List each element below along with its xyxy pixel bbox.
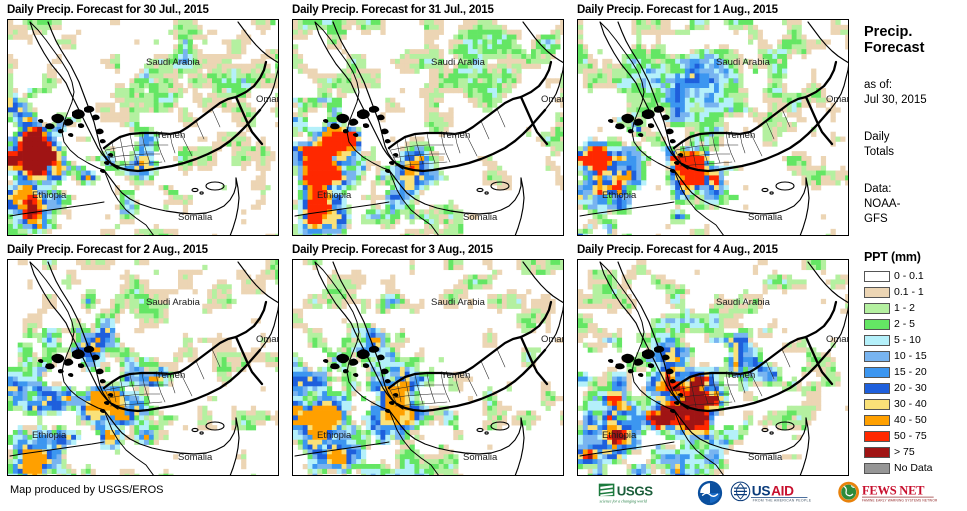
precip-grid	[293, 260, 564, 476]
legend-label: 10 - 15	[894, 351, 927, 362]
legend-swatch	[864, 271, 890, 282]
precip-grid	[8, 260, 279, 476]
legend-swatch	[864, 303, 890, 314]
panel-map-frame[interactable]: Saudi ArabiaOmanYemenEthiopiaSomalia	[292, 259, 564, 476]
legend-swatch	[864, 463, 890, 474]
panel-map-frame[interactable]: Saudi ArabiaOmanYemenEthiopiaSomalia	[577, 19, 849, 236]
legend-label: 2 - 5	[894, 319, 915, 330]
sidebar-data-block: Data: NOAA- GFS	[864, 182, 900, 227]
panel-title: Daily Precip. Forecast for 31 Jul., 2015	[292, 4, 494, 16]
legend-label: 1 - 2	[894, 303, 915, 314]
sidebar-product-title: Precip. Forecast	[864, 24, 924, 56]
legend-label: 20 - 30	[894, 383, 927, 394]
noaa-logo	[697, 480, 723, 506]
panel-map-frame[interactable]: Saudi ArabiaOmanYemenEthiopiaSomalia	[577, 259, 849, 476]
legend-swatch	[864, 335, 890, 346]
legend-row: 10 - 15	[864, 349, 967, 364]
legend-label: 0.1 - 1	[894, 287, 924, 298]
logo-bar: USGS science for a changing world US AID…	[598, 479, 937, 507]
map-credit: Map produced by USGS/EROS	[10, 484, 163, 496]
panel-title: Daily Precip. Forecast for 2 Aug., 2015	[7, 244, 208, 256]
usaid-logo: US AID FROM THE AMERICAN PEOPLE	[730, 480, 830, 506]
legend-row: 30 - 40	[864, 397, 967, 412]
legend-title: PPT (mm)	[864, 250, 967, 264]
panel-title: Daily Precip. Forecast for 30 Jul., 2015	[7, 4, 209, 16]
legend-row: 15 - 20	[864, 365, 967, 380]
panel-map-frame[interactable]: Saudi ArabiaOmanYemenEthiopiaSomalia	[7, 259, 279, 476]
legend-label: > 75	[894, 447, 915, 458]
legend-label: 40 - 50	[894, 415, 927, 426]
asof-date: Jul 30, 2015	[864, 93, 927, 108]
fewsnet-logo: FEWS NET FAMINE EARLY WARNING SYSTEMS NE…	[837, 480, 937, 506]
legend-row: 20 - 30	[864, 381, 967, 396]
usgs-logo: USGS science for a changing world	[598, 480, 690, 506]
panel-title: Daily Precip. Forecast for 3 Aug., 2015	[292, 244, 493, 256]
legend-swatch	[864, 431, 890, 442]
legend-label: 5 - 10	[894, 335, 921, 346]
legend-row: 40 - 50	[864, 413, 967, 428]
panel-map-frame[interactable]: Saudi ArabiaOmanYemenEthiopiaSomalia	[292, 19, 564, 236]
legend-row: 1 - 2	[864, 301, 967, 316]
legend-swatch	[864, 415, 890, 426]
legend-swatch	[864, 319, 890, 330]
legend-swatch	[864, 399, 890, 410]
legend-swatch	[864, 383, 890, 394]
precip-grid	[578, 260, 849, 476]
legend-label: No Data	[894, 463, 933, 474]
sidebar-title-line2: Forecast	[864, 40, 924, 56]
panel-map-frame[interactable]: Saudi ArabiaOmanYemenEthiopiaSomalia	[7, 19, 279, 236]
legend-label: 15 - 20	[894, 367, 927, 378]
legend-label: 0 - 0.1	[894, 271, 924, 282]
legend-row: > 75	[864, 445, 967, 460]
legend: PPT (mm) 0 - 0.10.1 - 11 - 22 - 55 - 101…	[864, 250, 967, 477]
asof-label: as of:	[864, 78, 927, 93]
legend-rows: 0 - 0.10.1 - 11 - 22 - 55 - 1010 - 1515 …	[864, 269, 967, 476]
sidebar-asof-block: as of: Jul 30, 2015	[864, 78, 927, 108]
data-label: Data:	[864, 182, 900, 197]
precip-grid	[578, 20, 849, 236]
totals-line1: Daily	[864, 130, 894, 145]
legend-label: 30 - 40	[894, 399, 927, 410]
data-source-line2: GFS	[864, 212, 900, 227]
legend-swatch	[864, 287, 890, 298]
data-source-line1: NOAA-	[864, 197, 900, 212]
legend-row: No Data	[864, 461, 967, 476]
legend-swatch	[864, 367, 890, 378]
precip-grid	[8, 20, 279, 236]
legend-row: 0.1 - 1	[864, 285, 967, 300]
legend-row: 5 - 10	[864, 333, 967, 348]
legend-row: 2 - 5	[864, 317, 967, 332]
sidebar-totals-block: Daily Totals	[864, 130, 894, 160]
precip-grid	[293, 20, 564, 236]
panel-title: Daily Precip. Forecast for 1 Aug., 2015	[577, 4, 778, 16]
legend-swatch	[864, 447, 890, 458]
legend-row: 0 - 0.1	[864, 269, 967, 284]
legend-label: 50 - 75	[894, 431, 927, 442]
legend-row: 50 - 75	[864, 429, 967, 444]
sidebar-title-line1: Precip.	[864, 24, 924, 40]
panel-title: Daily Precip. Forecast for 4 Aug., 2015	[577, 244, 778, 256]
legend-swatch	[864, 351, 890, 362]
totals-line2: Totals	[864, 145, 894, 160]
